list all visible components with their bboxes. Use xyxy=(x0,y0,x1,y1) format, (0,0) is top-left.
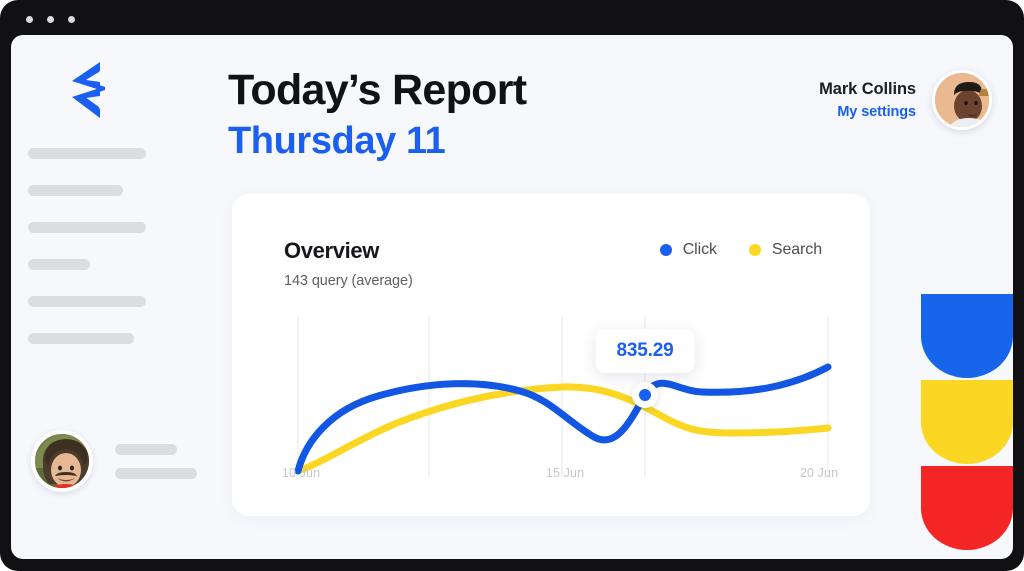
page-subtitle-date: Thursday 11 xyxy=(228,120,445,163)
x-tick-label-3: 20 Jun xyxy=(800,466,838,480)
sidebar-nav-skeleton xyxy=(28,148,203,370)
chart-series-click-line xyxy=(298,367,828,471)
sidebar-skeleton-3[interactable] xyxy=(28,222,146,233)
sidebar-user-avatar[interactable] xyxy=(31,430,93,492)
sidebar-user-line-1 xyxy=(115,444,177,455)
page-title: Today’s Report xyxy=(228,66,526,114)
decor-semicircle-red xyxy=(921,466,1013,550)
sidebar-user-skeleton xyxy=(115,444,197,479)
sidebar-skeleton-2[interactable] xyxy=(28,185,123,196)
x-tick-label-1: 10 Jun xyxy=(282,466,320,480)
overview-chart-card: Overview 143 query (average) Click Searc… xyxy=(232,194,870,516)
decorative-shapes xyxy=(921,294,1013,554)
sidebar-skeleton-5[interactable] xyxy=(28,296,146,307)
window-dot-maximize[interactable] xyxy=(68,16,75,23)
sidebar xyxy=(11,35,221,559)
app-logo-icon[interactable] xyxy=(59,59,111,121)
window-dot-close[interactable] xyxy=(26,16,33,23)
sidebar-skeleton-4[interactable] xyxy=(28,259,90,270)
decor-semicircle-blue xyxy=(921,294,1013,378)
window-dot-minimize[interactable] xyxy=(47,16,54,23)
x-tick-label-2: 15 Jun xyxy=(546,466,584,480)
account-block: Mark Collins My settings xyxy=(819,70,992,130)
chart-highlight-dot-icon xyxy=(639,389,651,401)
account-name: Mark Collins xyxy=(819,80,916,99)
account-text: Mark Collins My settings xyxy=(819,80,916,120)
sidebar-skeleton-6[interactable] xyxy=(28,333,134,344)
chart-highlight-marker[interactable] xyxy=(632,382,658,408)
my-settings-link[interactable]: My settings xyxy=(819,104,916,120)
chart-x-axis: 10 Jun 15 Jun 20 Jun xyxy=(232,466,870,486)
decor-semicircle-yellow xyxy=(921,380,1013,464)
sidebar-user-block[interactable] xyxy=(31,430,197,492)
app-viewport: Today’s Report Thursday 11 Mark Collins … xyxy=(11,35,1013,559)
chart-tooltip: 835.29 xyxy=(596,329,695,373)
sidebar-skeleton-1[interactable] xyxy=(28,148,146,159)
window-titlebar xyxy=(0,0,1024,38)
sidebar-user-line-2 xyxy=(115,468,197,479)
account-avatar[interactable] xyxy=(932,70,992,130)
browser-window-frame: Today’s Report Thursday 11 Mark Collins … xyxy=(0,0,1024,571)
